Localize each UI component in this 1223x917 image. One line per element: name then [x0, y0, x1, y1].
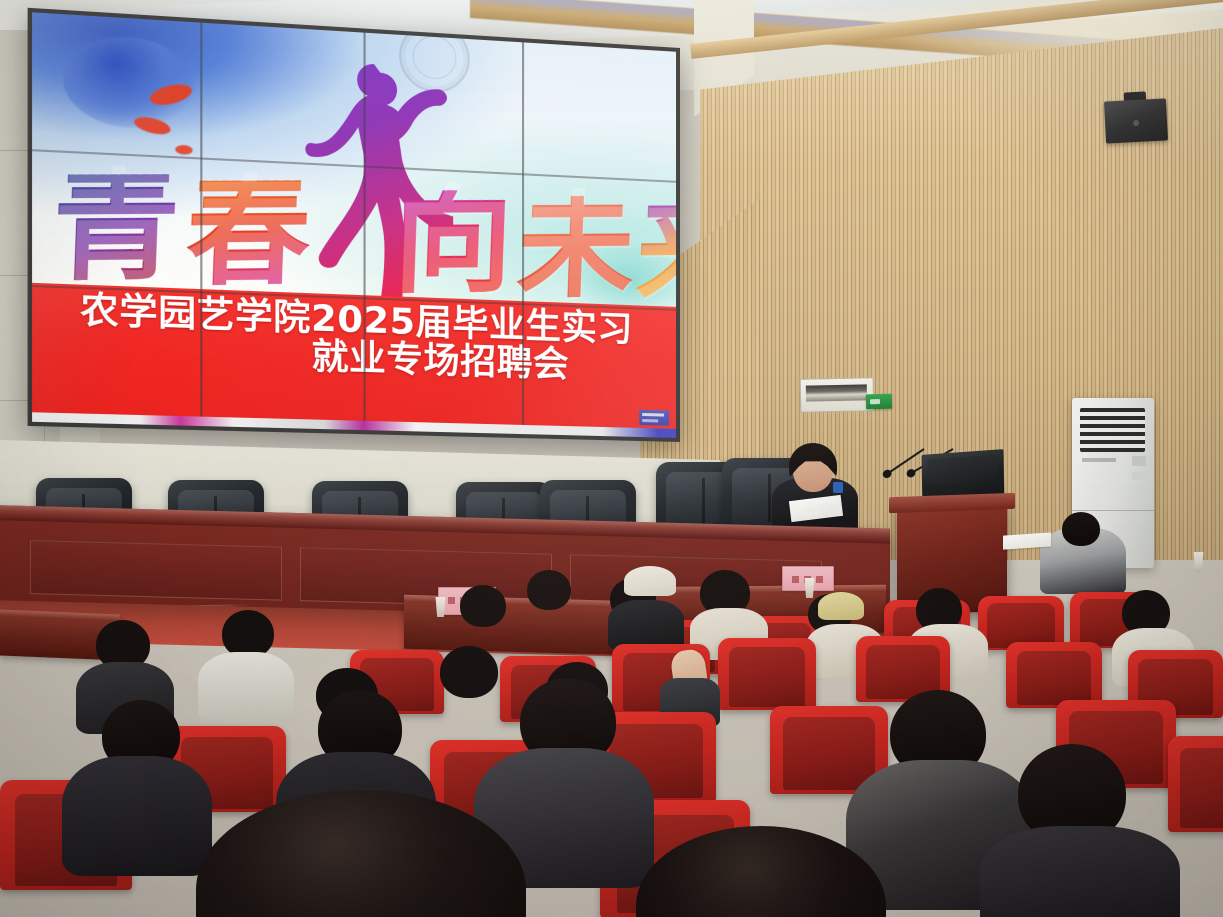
audience-torso — [980, 826, 1180, 917]
video-watermark-badge — [639, 410, 669, 426]
wall-speaker-icon — [1104, 98, 1168, 143]
presenter-badge — [833, 482, 843, 493]
attendee-hoodie-head — [1062, 512, 1100, 546]
audience-head — [460, 585, 506, 627]
audience-head — [527, 570, 571, 610]
audience-head — [222, 610, 274, 658]
yellow-beanie-icon — [818, 592, 864, 620]
ac-grille-icon — [1080, 408, 1145, 452]
audience-torso — [62, 756, 212, 876]
jumping-figure-silhouette — [296, 53, 453, 316]
paper-cup — [1192, 552, 1205, 572]
white-cap-icon — [624, 566, 676, 596]
audience-seat[interactable] — [1006, 642, 1102, 708]
audience-seat[interactable] — [718, 638, 816, 710]
audience-head — [440, 646, 498, 698]
led-video-wall[interactable]: 青 春 向 未 来 农学园艺学院2025届毕业生实习 就业专场招聘会 — [28, 8, 680, 442]
wall-cabinet — [800, 377, 875, 413]
audience-torso — [198, 652, 294, 722]
audience-torso — [608, 600, 684, 650]
exit-sign-icon — [866, 394, 892, 410]
audience-seat[interactable] — [1168, 736, 1223, 832]
auditorium-photo: 青 春 向 未 来 农学园艺学院2025届毕业生实习 就业专场招聘会 — [0, 0, 1223, 917]
